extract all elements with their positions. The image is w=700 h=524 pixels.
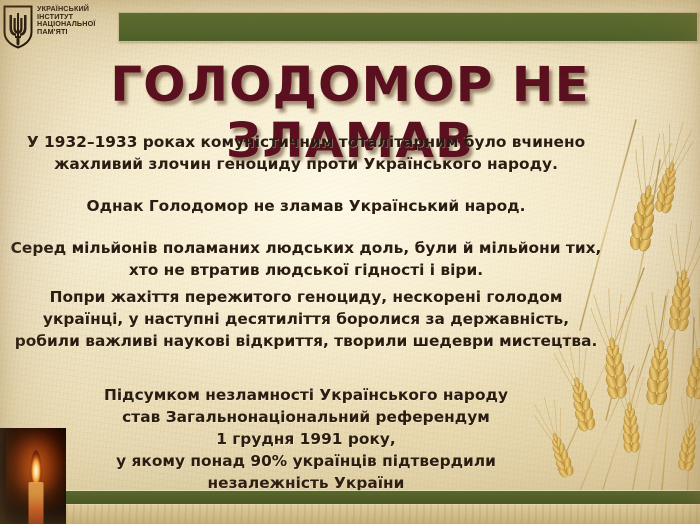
ukrainian-trident-shield-icon [3, 5, 33, 49]
memorial-candle-image [6, 428, 66, 524]
candle-body [29, 482, 44, 524]
body-line: став Загальнонаціональний референдум [6, 407, 606, 429]
bottom-green-banner [66, 491, 700, 504]
body-line: хто не втратив людської гідності і віри. [6, 260, 606, 282]
body-line: У 1932–1933 роках комуністичним тоталіта… [6, 132, 606, 154]
poster-body: У 1932–1933 роках комуністичним тоталіта… [6, 132, 606, 494]
body-line: 1 грудня 1991 року, [6, 429, 606, 451]
institute-logo: УКРАЇНСЬКИЙ ІНСТИТУТ НАЦІОНАЛЬНОЇ ПАМ'ЯТ… [3, 2, 119, 54]
body-line: українці, у наступні десятиліття боролис… [6, 309, 606, 331]
body-line: Однак Голодомор не зламав Український на… [6, 196, 606, 218]
institute-name-line-4: ПАМ'ЯТІ [37, 28, 95, 36]
body-line: у якому понад 90% українців підтвердили [6, 451, 606, 473]
body-line: Підсумком незламності Українського народ… [6, 385, 606, 407]
institute-name: УКРАЇНСЬКИЙ ІНСТИТУТ НАЦІОНАЛЬНОЇ ПАМ'ЯТ… [37, 2, 95, 36]
body-line: Серед мільйонів поламаних людських доль,… [6, 238, 606, 260]
body-line: жахливий злочин геноциду проти Українськ… [6, 154, 606, 176]
body-line: робили важливі наукові відкриття, творил… [6, 331, 606, 353]
holodomor-memorial-poster: УКРАЇНСЬКИЙ ІНСТИТУТ НАЦІОНАЛЬНОЇ ПАМ'ЯТ… [0, 0, 700, 524]
body-line: Попри жахіття пережитого геноциду, неско… [6, 287, 606, 309]
bottom-parchment-strip [66, 504, 700, 524]
top-green-banner [118, 12, 698, 42]
candle-flame-icon [31, 450, 42, 484]
